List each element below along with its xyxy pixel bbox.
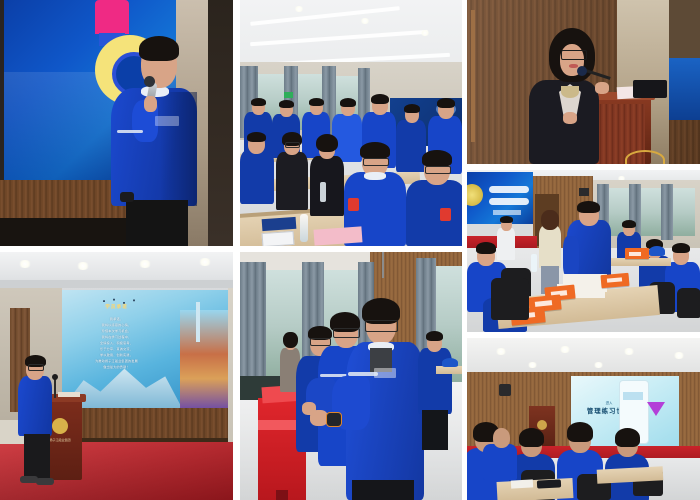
glasses-icon: [425, 166, 451, 174]
audience-hair: [567, 422, 593, 442]
pledge-line: 全情投入、积极思考、: [0, 342, 233, 345]
downlight: [76, 262, 90, 270]
glasses-icon: [310, 338, 331, 346]
speaker-chest-logo: [155, 116, 179, 126]
window: [641, 188, 661, 236]
speaker-hand: [563, 112, 577, 124]
attendee-hair: [500, 216, 513, 223]
speaker-hand: [595, 82, 609, 94]
attendee-hair: [279, 100, 294, 108]
panel-ribbon-cutting-red-box[interactable]: [240, 252, 462, 500]
microphone-head: [577, 66, 587, 76]
side-table: [611, 258, 671, 266]
downlight: [18, 260, 32, 268]
pledge-line: 我将在学习过程中，: [0, 336, 233, 339]
side-wall-right: [228, 288, 233, 444]
water-bottle: [320, 182, 326, 202]
screen-text-caption: [493, 210, 521, 215]
audience-back-torso: [483, 444, 517, 480]
screen-figure-pink: [95, 0, 129, 34]
attendee-hair: [672, 243, 690, 253]
microphone-head: [144, 76, 155, 87]
orange-box-label: [629, 252, 641, 256]
water-bottle: [531, 254, 537, 272]
back-table: [436, 366, 462, 374]
screen-text-pill[interactable]: [489, 198, 529, 205]
speaker-lips: [569, 64, 578, 68]
panel-speaker-with-microphone[interactable]: [0, 0, 233, 246]
attendee-table: [497, 478, 574, 500]
wall-speaker-box: [499, 384, 511, 396]
attendee-torso: [396, 120, 426, 172]
downlight: [559, 346, 571, 353]
attendee-suit-dark: [310, 156, 344, 216]
attendee-hair: [247, 132, 266, 142]
podium-speaker-trousers: [24, 434, 50, 480]
blue-helmet[interactable]: [649, 246, 665, 256]
wall-dark-column: [208, 0, 233, 246]
glasses-icon[interactable]: [365, 320, 398, 332]
notebook-on-table: [511, 479, 533, 488]
wall-dark-right: [669, 0, 700, 58]
arm-badge: [348, 198, 359, 211]
screen-text-pill[interactable]: [489, 186, 529, 193]
attendee-suit-dark: [276, 152, 308, 210]
water-bottle: [300, 214, 308, 242]
attendee-hair: [541, 210, 559, 230]
attendee-hair: [622, 220, 636, 228]
speaker-trousers: [126, 200, 188, 246]
podium-speaker-shoe: [36, 478, 54, 485]
pink-paper: [314, 226, 363, 245]
glasses-icon: [285, 142, 300, 148]
red-box-stand: [276, 490, 288, 500]
background-woman-hair: [283, 332, 298, 348]
ceiling-beam: [0, 280, 233, 288]
notebook: [262, 217, 297, 231]
speaker-hair: [139, 36, 179, 61]
downlight: [360, 18, 370, 24]
attendee-hair: [316, 134, 338, 152]
foreground-man-hair: [577, 201, 600, 213]
ceiling-cable: [382, 252, 384, 278]
glasses-icon: [363, 158, 389, 166]
attendee-cream-sweater: [539, 226, 561, 268]
name-card: [262, 231, 295, 246]
audience-hair: [615, 428, 640, 447]
glasses-icon: [28, 364, 44, 371]
speaker-box: [579, 188, 589, 196]
speaker-clicker: [120, 192, 134, 202]
background-worker-hair: [426, 331, 443, 341]
screen-sliver: [669, 58, 700, 120]
foreground-man-arm: [563, 236, 579, 278]
audience-head: [493, 428, 510, 448]
attendee-torso-front: [406, 180, 462, 246]
monitor: [633, 80, 667, 98]
speaker-hand: [144, 96, 157, 112]
stage-wood-panel: [62, 408, 233, 442]
panel-podium-pledge-slide[interactable]: 学员承诺 我承诺， 我将以感恩的心情， 珍惜本次学习机会， 我将在学习过程中， …: [0, 252, 233, 500]
tablet-on-table[interactable]: [537, 479, 561, 488]
downlight: [593, 362, 604, 368]
panel-audience-watching-projection[interactable]: 进入 管理练习世界: [467, 338, 700, 500]
exit-sign: [284, 92, 293, 98]
pledge-line: 珍惜本次学习机会，: [0, 330, 233, 333]
downlight: [420, 30, 430, 36]
podium-microphone-head: [52, 374, 58, 380]
downlight: [673, 352, 685, 359]
glasses-icon[interactable]: [333, 328, 360, 338]
attendee-hair: [422, 150, 452, 167]
podium-emblem: [537, 420, 547, 430]
speaker-sleeve-stripe: [117, 130, 143, 133]
podium-emblem: [52, 418, 68, 434]
pledge-line: 我将以感恩的心情，: [0, 324, 233, 327]
downlight: [138, 260, 152, 268]
blue-helmet[interactable]: [442, 358, 458, 367]
attendee-hair: [309, 98, 324, 106]
downlight: [198, 258, 212, 266]
attendee-hair: [404, 104, 420, 113]
downlight: [623, 348, 635, 355]
wristwatch: [326, 412, 342, 427]
panel-standing-audience-wide[interactable]: [240, 0, 462, 246]
panel-woman-speaking-at-lectern[interactable]: [467, 0, 700, 164]
podium-microphone: [54, 378, 56, 398]
photo-collage: 学员承诺 我承诺， 我将以感恩的心情， 珍惜本次学习机会， 我将在学习过程中， …: [0, 0, 700, 500]
wall-trim-vertical: [471, 10, 475, 142]
attendee-white-shirt: [497, 228, 515, 260]
slide-title: 学员承诺: [0, 304, 233, 310]
attendee-hair: [251, 98, 266, 106]
downlight: [294, 6, 304, 12]
sleeve-stripe: [348, 372, 378, 376]
lectern-emblem: [625, 150, 665, 164]
triangle-logo-icon: [647, 402, 665, 416]
window: [673, 188, 695, 236]
phone-screen-content: [623, 392, 643, 400]
downlight: [527, 362, 538, 368]
speaker-jacket-shadow: [160, 92, 197, 206]
pledge-line: 乐于分享、真诚交流、: [0, 348, 233, 351]
speaker-necklace: [561, 86, 579, 98]
arm-badge: [440, 208, 451, 221]
attendee-hair: [371, 94, 389, 104]
window-curtain: [661, 184, 673, 240]
attendee-hair: [437, 98, 455, 108]
chair-back[interactable]: [491, 278, 529, 320]
glasses-icon[interactable]: [561, 50, 587, 60]
podium-speaker-jacket: [18, 376, 52, 436]
audience-hair: [519, 428, 544, 447]
attendee-collar: [364, 172, 386, 180]
panel-materials-handout-room[interactable]: [467, 170, 700, 332]
attendee-hair: [476, 242, 496, 254]
window-curtain: [240, 262, 266, 386]
attendee-torso: [240, 150, 274, 204]
pledge-line: 我承诺，: [0, 318, 233, 321]
background-worker-trousers: [422, 410, 448, 450]
attendee-hair: [360, 142, 390, 159]
papers-on-podium: [58, 392, 80, 397]
attendee-hair: [340, 98, 356, 107]
downlight: [495, 348, 507, 355]
worker-trousers-front: [352, 480, 414, 500]
chair-back[interactable]: [677, 288, 700, 318]
